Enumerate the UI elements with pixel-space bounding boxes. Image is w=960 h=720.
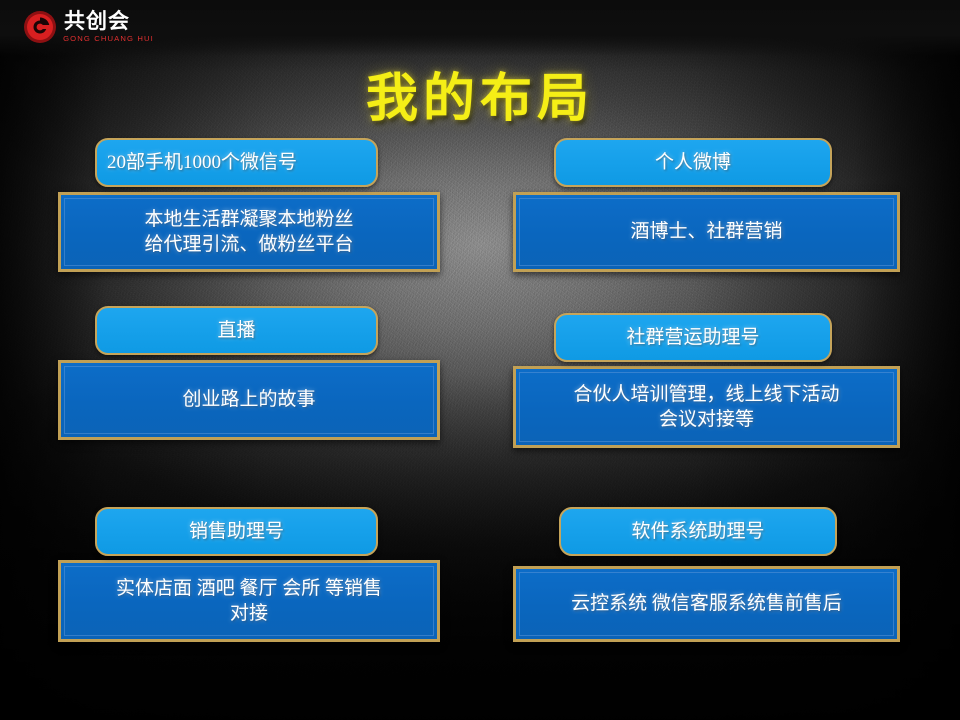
body-line: 创业路上的故事 xyxy=(71,387,427,412)
group-body-sales-assistant: 实体店面 酒吧 餐厅 会所 等销售 对接 xyxy=(58,560,440,642)
body-line: 合伙人培训管理，线上线下活动 xyxy=(526,382,887,407)
slide-canvas: 共创会 GONG CHUANG HUI 我的布局 本地生活群凝聚本地粉丝 给代理… xyxy=(0,0,960,720)
group-header-label: 20部手机1000个微信号 xyxy=(107,153,297,172)
logo-pinyin-name: GONG CHUANG HUI xyxy=(63,35,154,43)
group-body-software-system-assistant: 云控系统 微信客服系统售前售后 xyxy=(513,566,900,642)
group-body-personal-weibo: 酒博士、社群营销 xyxy=(513,192,900,272)
group-header-label: 销售助理号 xyxy=(189,522,284,541)
page-title: 我的布局 xyxy=(0,56,960,131)
brand-logo: 共创会 GONG CHUANG HUI xyxy=(23,10,153,44)
body-line: 本地生活群凝聚本地粉丝 xyxy=(71,207,427,232)
group-header-personal-weibo[interactable]: 个人微博 xyxy=(554,138,832,187)
body-line: 会议对接等 xyxy=(526,407,887,432)
group-header-live-stream[interactable]: 直播 xyxy=(95,306,378,355)
gongchuanghui-g-logo-icon xyxy=(23,10,57,44)
logo-chinese-name: 共创会 xyxy=(64,11,153,32)
group-body-phones-wechat: 本地生活群凝聚本地粉丝 给代理引流、做粉丝平台 xyxy=(58,192,440,272)
group-header-label: 软件系统助理号 xyxy=(631,522,764,541)
body-line: 酒博士、社群营销 xyxy=(526,219,887,244)
group-header-software-system-assistant[interactable]: 软件系统助理号 xyxy=(559,507,837,556)
body-line: 实体店面 酒吧 餐厅 会所 等销售 xyxy=(71,576,427,601)
group-header-label: 社群营运助理号 xyxy=(626,328,759,347)
group-header-sales-assistant[interactable]: 销售助理号 xyxy=(95,507,378,556)
group-body-live-stream: 创业路上的故事 xyxy=(58,360,440,440)
group-header-phones-wechat[interactable]: 20部手机1000个微信号 xyxy=(95,138,378,187)
group-header-label: 直播 xyxy=(217,321,255,340)
group-header-label: 个人微博 xyxy=(655,153,731,172)
body-line: 对接 xyxy=(71,601,427,626)
body-line: 云控系统 微信客服系统售前售后 xyxy=(526,591,887,616)
group-body-community-ops-assistant: 合伙人培训管理，线上线下活动 会议对接等 xyxy=(513,366,900,448)
body-line: 给代理引流、做粉丝平台 xyxy=(71,232,427,257)
group-header-community-ops-assistant[interactable]: 社群营运助理号 xyxy=(554,313,832,362)
